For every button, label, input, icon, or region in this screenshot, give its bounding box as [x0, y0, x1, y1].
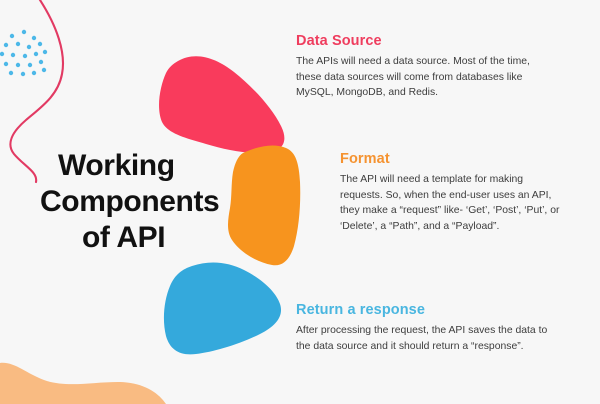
section-return-a-response: Return a response After processing the r…: [296, 301, 548, 354]
page-title-line-2: Components: [40, 184, 260, 220]
page-title: Working Components of API: [40, 148, 260, 256]
pink-blob[interactable]: [159, 56, 284, 153]
blue-blob[interactable]: [164, 263, 281, 355]
section-data-source-heading: Data Source: [296, 32, 548, 50]
section-return-a-response-body: After processing the request, the API sa…: [296, 323, 548, 354]
section-data-source-body: The APIs will need a data source. Most o…: [296, 54, 548, 101]
page-title-line-3: of API: [40, 220, 260, 256]
section-data-source: Data Source The APIs will need a data so…: [296, 32, 548, 101]
infographic-canvas: Working Components of API Data Source Th…: [0, 0, 600, 404]
section-return-a-response-heading: Return a response: [296, 301, 548, 319]
section-format: Format The API will need a template for …: [340, 150, 568, 234]
section-format-body: The API will need a template for making …: [340, 172, 568, 234]
section-format-heading: Format: [340, 150, 568, 168]
page-title-line-1: Working: [40, 148, 260, 184]
